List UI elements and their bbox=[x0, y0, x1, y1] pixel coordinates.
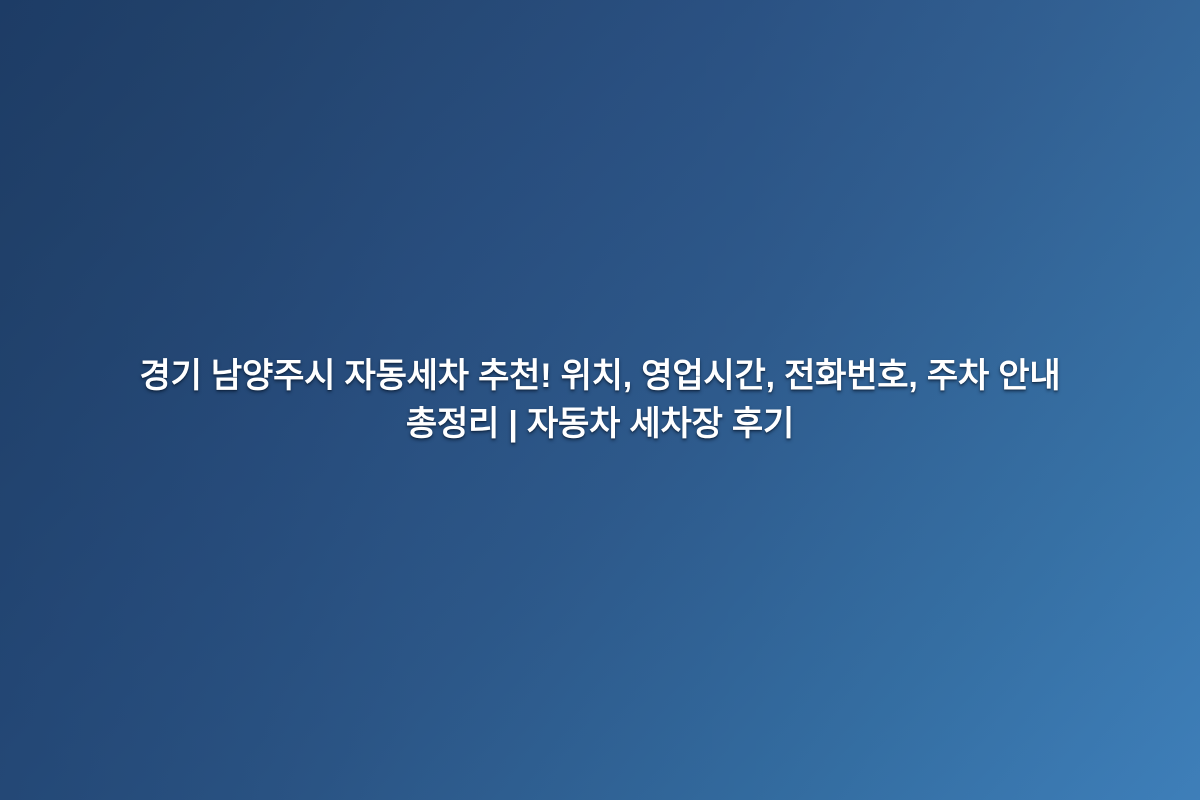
hero-content: 경기 남양주시 자동세차 추천! 위치, 영업시간, 전화번호, 주차 안내 총… bbox=[80, 352, 1120, 448]
hero-banner: 경기 남양주시 자동세차 추천! 위치, 영업시간, 전화번호, 주차 안내 총… bbox=[0, 0, 1200, 800]
page-title: 경기 남양주시 자동세차 추천! 위치, 영업시간, 전화번호, 주차 안내 총… bbox=[100, 352, 1100, 448]
